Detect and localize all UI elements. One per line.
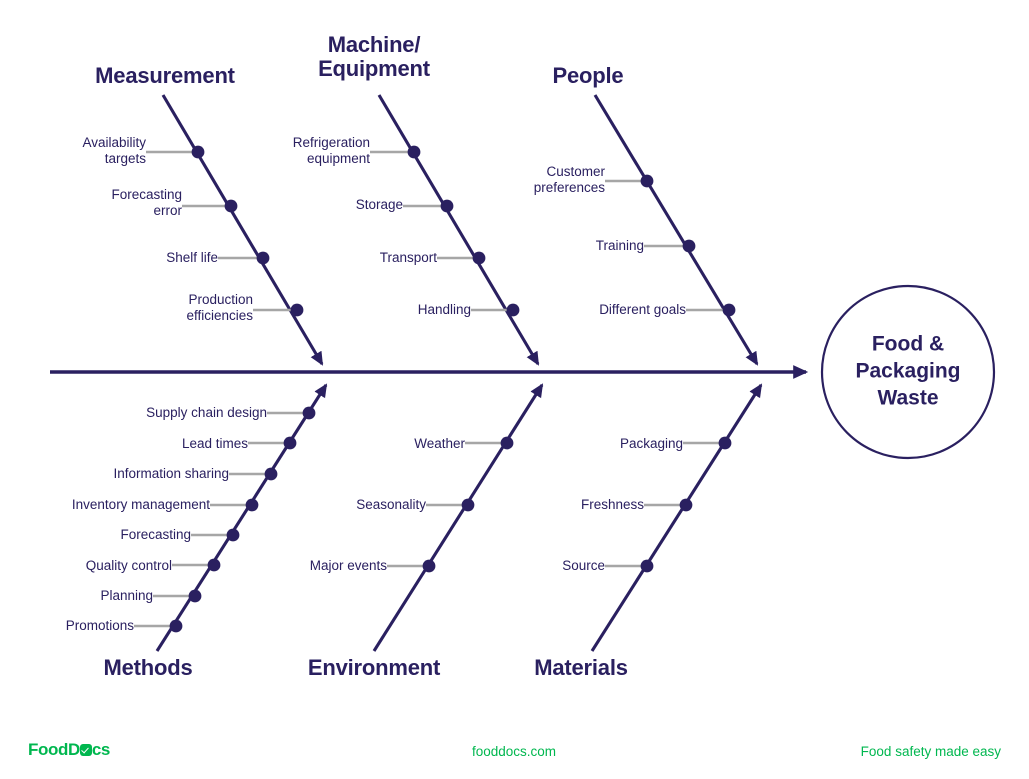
cause-dot-methods-7 bbox=[170, 620, 183, 633]
logo-check-icon bbox=[80, 744, 92, 756]
cause-dot-methods-0 bbox=[303, 407, 316, 420]
cause-label-machine-3[interactable]: Handling bbox=[418, 302, 471, 318]
logo-text-food: Food bbox=[28, 740, 68, 760]
cause-dot-methods-4 bbox=[227, 529, 240, 542]
cause-dot-environment-2 bbox=[423, 560, 436, 573]
cause-dot-methods-2 bbox=[265, 468, 278, 481]
bone-line-machine-equipment bbox=[379, 95, 538, 364]
cause-dot-materials-0 bbox=[719, 437, 732, 450]
cause-dot-environment-1 bbox=[462, 499, 475, 512]
cause-dot-methods-5 bbox=[208, 559, 221, 572]
cause-dot-people-2 bbox=[723, 304, 736, 317]
cause-label-people-0[interactable]: Customer preferences bbox=[534, 164, 605, 196]
cause-dot-materials-2 bbox=[641, 560, 654, 573]
cause-label-environment-2[interactable]: Major events bbox=[310, 558, 387, 574]
category-title-environment[interactable]: Environment bbox=[308, 656, 440, 680]
footer-website-link[interactable]: fooddocs.com bbox=[472, 744, 556, 759]
cause-label-methods-7[interactable]: Promotions bbox=[66, 618, 134, 634]
cause-dot-measurement-1 bbox=[225, 200, 238, 213]
bone-line-methods bbox=[157, 385, 326, 651]
cause-dot-people-1 bbox=[683, 240, 696, 253]
category-title-machine-equipment[interactable]: Machine/ Equipment bbox=[318, 33, 430, 81]
cause-label-materials-1[interactable]: Freshness bbox=[581, 497, 644, 513]
cause-dot-measurement-2 bbox=[257, 252, 270, 265]
cause-label-people-1[interactable]: Training bbox=[596, 238, 644, 254]
cause-dot-environment-0 bbox=[501, 437, 514, 450]
cause-dot-materials-1 bbox=[680, 499, 693, 512]
cause-dot-machine-2 bbox=[473, 252, 486, 265]
cause-dot-measurement-3 bbox=[291, 304, 304, 317]
cause-label-methods-4[interactable]: Forecasting bbox=[120, 527, 191, 543]
cause-label-machine-0[interactable]: Refrigeration equipment bbox=[293, 135, 370, 167]
cause-label-methods-3[interactable]: Inventory management bbox=[72, 497, 210, 513]
bone-line-environment bbox=[374, 385, 542, 651]
cause-label-methods-2[interactable]: Information sharing bbox=[113, 466, 229, 482]
category-title-measurement[interactable]: Measurement bbox=[95, 64, 235, 88]
cause-label-materials-2[interactable]: Source bbox=[562, 558, 605, 574]
category-title-methods[interactable]: Methods bbox=[103, 656, 192, 680]
cause-dot-machine-1 bbox=[441, 200, 454, 213]
cause-label-measurement-3[interactable]: Production efficiencies bbox=[186, 292, 253, 324]
effect-label: Food & Packaging Waste bbox=[833, 332, 983, 413]
fishbone-diagram-canvas: Measurement Machine/ Equipment People Me… bbox=[0, 0, 1029, 779]
footer-tagline: Food safety made easy bbox=[861, 744, 1001, 759]
bone-methods bbox=[134, 385, 326, 651]
bone-materials bbox=[592, 385, 761, 651]
cause-dot-people-0 bbox=[641, 175, 654, 188]
cause-label-measurement-1[interactable]: Forecasting error bbox=[111, 187, 182, 219]
cause-label-materials-0[interactable]: Packaging bbox=[620, 436, 683, 452]
category-title-people[interactable]: People bbox=[553, 64, 624, 88]
bone-line-materials bbox=[592, 385, 761, 651]
cause-label-machine-1[interactable]: Storage bbox=[356, 197, 403, 213]
cause-dot-machine-0 bbox=[408, 146, 421, 159]
cause-dot-methods-3 bbox=[246, 499, 259, 512]
fooddocs-logo[interactable]: FoodDcs bbox=[28, 740, 110, 760]
bone-line-people bbox=[595, 95, 757, 364]
cause-label-environment-1[interactable]: Seasonality bbox=[356, 497, 426, 513]
cause-label-measurement-0[interactable]: Availability targets bbox=[82, 135, 146, 167]
cause-label-people-2[interactable]: Different goals bbox=[599, 302, 686, 318]
cause-label-measurement-2[interactable]: Shelf life bbox=[166, 250, 218, 266]
logo-text-d: D bbox=[68, 740, 80, 760]
cause-dot-methods-1 bbox=[284, 437, 297, 450]
cause-dot-measurement-0 bbox=[192, 146, 205, 159]
cause-label-methods-6[interactable]: Planning bbox=[100, 588, 153, 604]
cause-label-methods-1[interactable]: Lead times bbox=[182, 436, 248, 452]
cause-label-machine-2[interactable]: Transport bbox=[380, 250, 437, 266]
cause-label-methods-0[interactable]: Supply chain design bbox=[146, 405, 267, 421]
bone-machine-equipment bbox=[370, 95, 538, 364]
bone-environment bbox=[374, 385, 542, 651]
cause-dot-methods-6 bbox=[189, 590, 202, 603]
category-title-materials[interactable]: Materials bbox=[534, 656, 628, 680]
logo-text-cs: cs bbox=[92, 740, 110, 760]
cause-dot-machine-3 bbox=[507, 304, 520, 317]
bone-people bbox=[595, 95, 757, 364]
cause-label-methods-5[interactable]: Quality control bbox=[86, 558, 172, 574]
cause-label-environment-0[interactable]: Weather bbox=[414, 436, 465, 452]
